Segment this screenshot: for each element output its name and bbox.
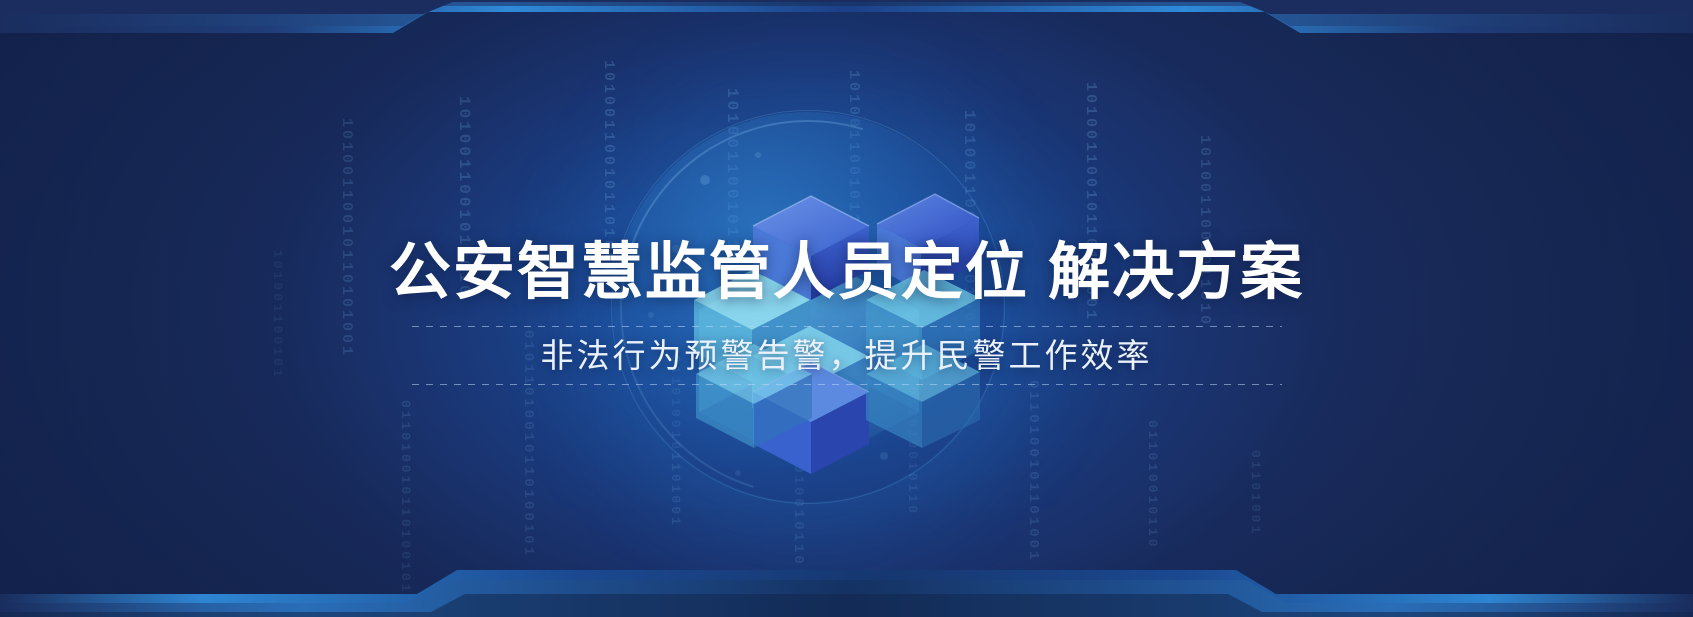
hero-banner: 1010011001011010100101101001011010010110… (0, 0, 1693, 617)
divider-top (412, 326, 1282, 327)
banner-subtitle: 非法行为预警告警，提升民警工作效率 (541, 339, 1153, 372)
divider-bottom (412, 384, 1282, 385)
banner-text-block: 公安智慧监管人员定位 解决方案 非法行为预警告警，提升民警工作效率 (0, 0, 1693, 617)
banner-title: 公安智慧监管人员定位 解决方案 (389, 242, 1304, 304)
